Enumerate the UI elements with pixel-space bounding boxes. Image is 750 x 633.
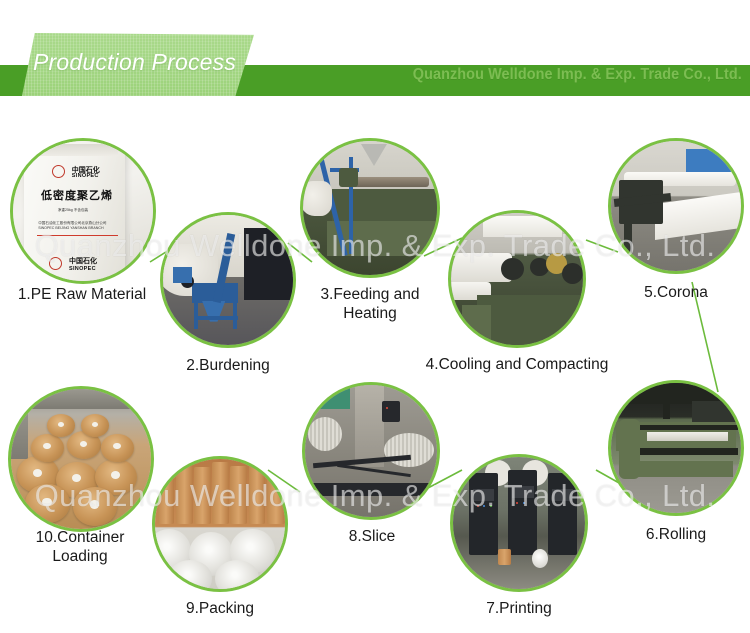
rolled-material-sheet (647, 432, 728, 441)
photo-burdening (163, 215, 293, 345)
bag-red-line (37, 235, 118, 237)
machine-background-unit (692, 401, 736, 422)
kraft-bundle (158, 464, 175, 524)
kraft-bundle (267, 469, 285, 524)
bag-extra-line-1 (41, 239, 42, 244)
sinopec-brand-en-bottom: SINOPEC (69, 266, 96, 272)
machine-base (305, 483, 437, 496)
indicator-led-red (477, 505, 479, 507)
machine-base-plate (624, 461, 733, 477)
ink-drum (498, 549, 511, 565)
step-photo-1: 中国石化 SINOPEC 低密度聚乙烯 LDPE 净重25kg 不含包装 中国石… (10, 138, 156, 284)
white-packed-roll (168, 560, 212, 592)
support-column (663, 386, 670, 420)
step-photo-4 (448, 210, 586, 348)
bag-top-seam (27, 144, 118, 157)
step-photo-2 (160, 212, 296, 348)
green-bin (316, 388, 350, 409)
photo-packing (155, 459, 285, 589)
bag-product-code: LDPE (70, 198, 79, 203)
step-label-2: 2.Burdening (118, 357, 338, 376)
bag-company-cn: 中国石油化工股份有限公司北京燕山分公司 (38, 221, 106, 226)
step-photo-7 (450, 454, 588, 592)
control-panel-2 (512, 486, 533, 498)
photo-feeding-heating (303, 141, 437, 275)
drive-wheel-3 (562, 263, 583, 284)
gearbox-unit (339, 168, 358, 187)
blue-frame-brace (197, 316, 239, 320)
kraft-roll (25, 484, 70, 523)
indicator-led-blue (523, 502, 525, 504)
production-process-infographic: Quanzhou Welldone Imp. & Exp. Trade Co.,… (0, 0, 750, 633)
step-label-9: 9.Packing (110, 600, 330, 619)
kraft-roll (47, 414, 75, 436)
step-photo-9 (152, 456, 288, 592)
photo-slice (305, 385, 437, 517)
photo-container-loading (11, 389, 151, 529)
white-packed-roll (215, 560, 259, 592)
container-ceiling (11, 389, 151, 409)
step-label-8: 8.Slice (262, 528, 482, 547)
control-box (382, 401, 400, 422)
sinopec-logo-top (52, 165, 65, 178)
step-photo-6 (608, 380, 744, 516)
blue-frame-leg-right (233, 301, 237, 330)
control-panel-background (483, 216, 562, 237)
kraft-bundle (249, 463, 266, 524)
control-panel-3 (552, 489, 573, 501)
printing-tower-1 (469, 473, 498, 555)
kraft-roll (101, 434, 135, 462)
bag-company-en: SINOPEC BEIJING YANSHAN BRANCH (38, 226, 103, 231)
step-photo-8 (302, 382, 440, 520)
kraft-bundle (176, 462, 193, 524)
blue-frame-leg-left (194, 301, 198, 330)
step-label-5: 5.Corona (566, 284, 750, 303)
support-post-left (624, 216, 632, 255)
indicator-led-green (490, 505, 492, 507)
kraft-bundle (212, 462, 229, 524)
printing-tower-2 (508, 470, 537, 554)
slit-material-roll (384, 433, 434, 467)
photo-corona (611, 141, 741, 271)
kraft-bundle (194, 467, 211, 524)
step-photo-10 (8, 386, 154, 532)
step-label-6: 6.Rolling (566, 526, 750, 545)
sinopec-brand-cn-bottom: 中国石化 (69, 256, 97, 266)
concrete-pillar (355, 385, 384, 467)
roller-shaft-lower (640, 448, 739, 455)
sinopec-brand-en-top: SINOPEC (72, 173, 99, 179)
kraft-bundle (230, 466, 247, 525)
kraft-roll (81, 414, 109, 436)
container-wall-left (11, 403, 28, 459)
slitting-roll (308, 417, 342, 451)
photo-printing (453, 457, 585, 589)
roller-shaft-upper (640, 425, 739, 430)
step-label-3: 3.Feeding and Heating (260, 286, 480, 324)
kraft-roll (31, 434, 65, 462)
photo-cooling-compacting (451, 213, 583, 345)
feed-hopper (361, 144, 387, 166)
kraft-roll (73, 487, 118, 526)
step-label-7: 7.Printing (409, 600, 629, 619)
blue-bin-left (173, 267, 191, 283)
solvent-bucket (532, 549, 548, 567)
control-panel-1 (473, 489, 494, 501)
drive-wheel-1 (501, 258, 523, 280)
step-photo-3 (300, 138, 440, 278)
step-photo-5 (608, 138, 744, 274)
step-label-4: 4.Cooling and Compacting (407, 356, 627, 375)
photo-rolling (611, 383, 741, 513)
white-sacks-background (300, 181, 332, 216)
photo-pe-raw-material: 中国石化 SINOPEC 低密度聚乙烯 LDPE 净重25kg 不含包装 中国石… (13, 141, 153, 281)
machine-frame-side (462, 305, 491, 345)
bag-spec-cn: 净重25kg 不含包装 (58, 208, 88, 213)
